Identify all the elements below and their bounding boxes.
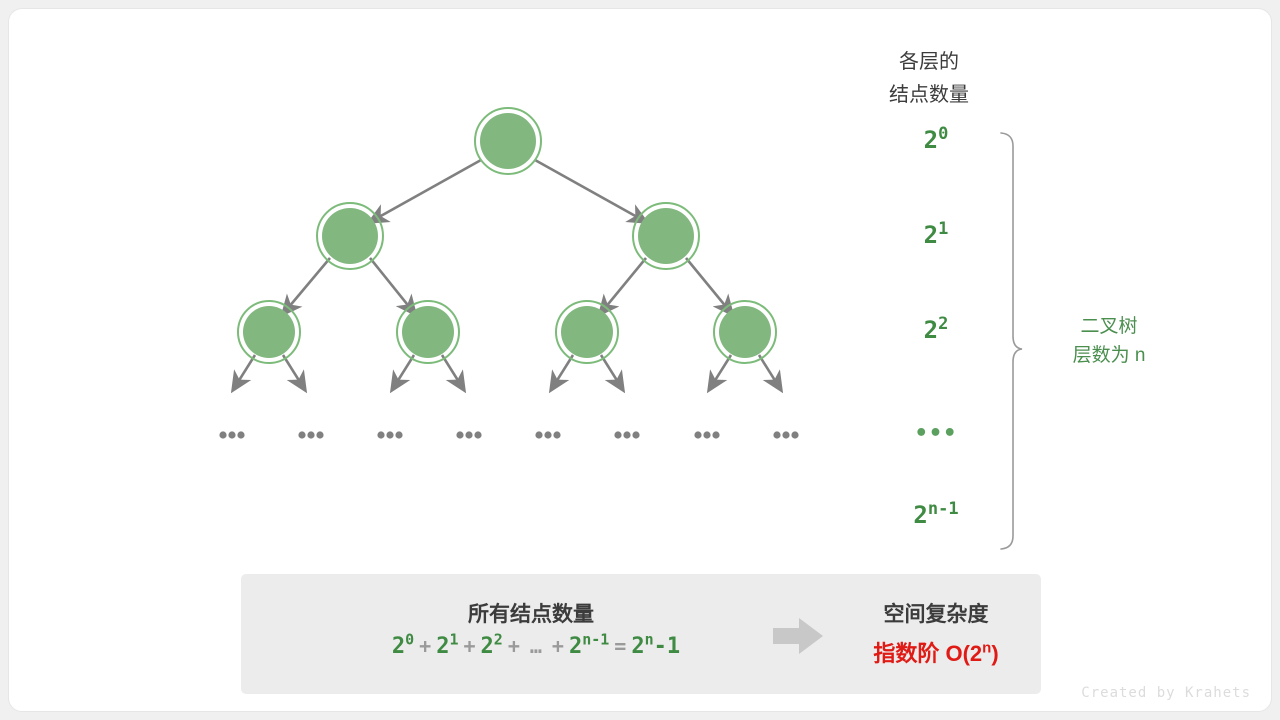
arrow-right-icon [769, 614, 829, 658]
level-label-2-exp: 2 [938, 314, 948, 334]
header-line1: 各层的 [819, 45, 1039, 74]
ellipsis-row [219, 431, 798, 438]
level-label-ellipsis: ••• [901, 421, 971, 446]
formula-plus-2: + [503, 634, 525, 658]
level-label-last-exp: n-1 [928, 499, 959, 519]
level-brace [1001, 133, 1022, 549]
level-label-2: 22 [901, 316, 971, 344]
summary-formula: 20+21+22+…+2n-1=2n-1 [281, 634, 791, 659]
formula-ellipsis: … [525, 634, 547, 658]
level-label-1-exp: 1 [938, 219, 948, 239]
formula-term-4: 2n-1 [569, 634, 609, 659]
summary-box: 所有结点数量 20+21+22+…+2n-1=2n-1 空间复杂度 指数阶 O(… [241, 574, 1041, 694]
diagram-stage: 各层的 结点数量 20 21 22 ••• 2n-1 二叉树 层数为 n 所有结… [9, 9, 1272, 712]
formula-equals: = [609, 634, 631, 658]
formula-result: 2n-1 [631, 634, 680, 659]
formula-term-0: 20 [392, 634, 414, 659]
tree-edges [233, 160, 781, 390]
level-label-0: 20 [901, 126, 971, 154]
brace-note: 二叉树 层数为 n [1039, 312, 1179, 371]
complexity-title: 空间复杂度 [841, 598, 1031, 628]
level-label-last: 2n-1 [879, 501, 993, 529]
level-label-0-exp: 0 [938, 124, 948, 144]
formula-term-2: 22 [481, 634, 503, 659]
formula-plus-3: + [547, 634, 569, 658]
tree-nodes [238, 108, 776, 363]
brace-note-line1: 二叉树 [1039, 312, 1179, 341]
formula-term-1: 21 [436, 634, 458, 659]
header-line2: 结点数量 [819, 78, 1039, 107]
diagram-card: 各层的 结点数量 20 21 22 ••• 2n-1 二叉树 层数为 n 所有结… [8, 8, 1272, 712]
brace-note-line2: 层数为 n [1039, 341, 1179, 370]
formula-plus-1: + [458, 634, 480, 658]
complexity-value: 指数阶 O(2n) [841, 636, 1031, 668]
credit-text: Created by Krahets [1081, 685, 1251, 701]
level-label-1: 21 [901, 221, 971, 249]
formula-plus-0: + [414, 634, 436, 658]
summary-title: 所有结点数量 [271, 598, 791, 628]
